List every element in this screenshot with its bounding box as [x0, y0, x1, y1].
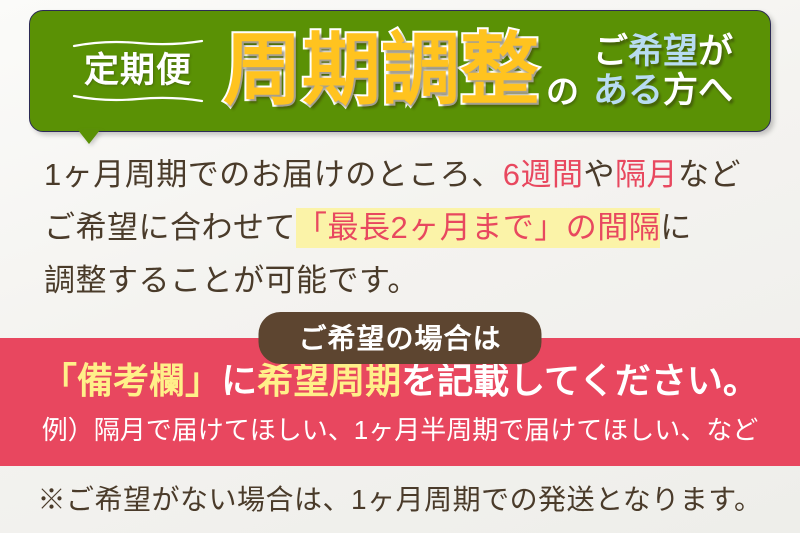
- instruction-example-line: 例）隔月で届けてほしい、1ヶ月半周期で届けてほしい、など: [0, 416, 800, 445]
- decorative-line-bottom-icon: [72, 93, 204, 103]
- header-subtitle-l1-c: が: [698, 32, 733, 71]
- footer-note: ※ご希望がない場合は、1ヶ月周期での発送となります。: [0, 478, 800, 518]
- body-line-2: ご希望に合わせて「最長2ヶ月まで」の間隔に: [44, 201, 756, 254]
- header-title-particle: の: [546, 65, 579, 113]
- subscription-badge-label: 定期便: [84, 53, 192, 90]
- body-l2-highlighted: 「最長2ヶ月まで」の間隔: [296, 208, 660, 248]
- header-section: 定期便 周期調整 の ご希望が ある方へ: [0, 0, 800, 145]
- header-title: 周期調整: [223, 30, 539, 109]
- header-subtitle-line2: ある方へ: [593, 71, 733, 110]
- header-subtitle-l1-a: ご: [593, 32, 628, 71]
- header-subtitle-l2-b: 方へ: [663, 71, 733, 110]
- body-l1-part2: や: [584, 157, 616, 192]
- body-l1-emphasis-1: 6週間: [503, 157, 584, 192]
- decorative-line-top-icon: [72, 39, 204, 49]
- header-green-bubble: 定期便 周期調整 の ご希望が ある方へ: [29, 10, 771, 132]
- instruction-action: を記載してください。: [401, 360, 759, 401]
- header-subtitle-line1: ご希望が: [593, 32, 733, 71]
- instruction-particle-1: に: [221, 360, 257, 401]
- speech-bubble-tail-icon: [78, 130, 100, 144]
- body-line-1: 1ヶ月周期でのお届けのところ、6週間や隔月など: [44, 148, 756, 201]
- body-l1-part3: など: [678, 157, 741, 192]
- body-l2-part1: ご希望に合わせて: [44, 210, 296, 245]
- instruction-main-line: 「備考欄」に希望周期を記載してください。: [0, 361, 800, 401]
- body-l1-part1: 1ヶ月周期でのお届けのところ、: [44, 157, 503, 192]
- instruction-field-name: 「備考欄」: [41, 360, 221, 401]
- instruction-cycle-term: 希望周期: [257, 360, 401, 401]
- subscription-badge: 定期便: [63, 35, 213, 108]
- header-subtitle: ご希望が ある方へ: [593, 32, 733, 110]
- header-subtitle-l2-a: ある: [593, 71, 663, 110]
- promo-banner: 定期便 周期調整 の ご希望が ある方へ 1ヶ月周期でのお届けのところ、6週間や…: [0, 0, 800, 533]
- header-subtitle-l1-b: 希望: [628, 32, 698, 71]
- body-l2-part2: に: [660, 210, 692, 245]
- body-l1-emphasis-2: 隔月: [615, 157, 678, 192]
- body-paragraph: 1ヶ月周期でのお届けのところ、6週間や隔月など ご希望に合わせて「最長2ヶ月まで…: [0, 148, 800, 307]
- body-line-3: 調整することが可能です。: [44, 254, 756, 307]
- request-case-pill: ご希望の場合は: [258, 312, 541, 364]
